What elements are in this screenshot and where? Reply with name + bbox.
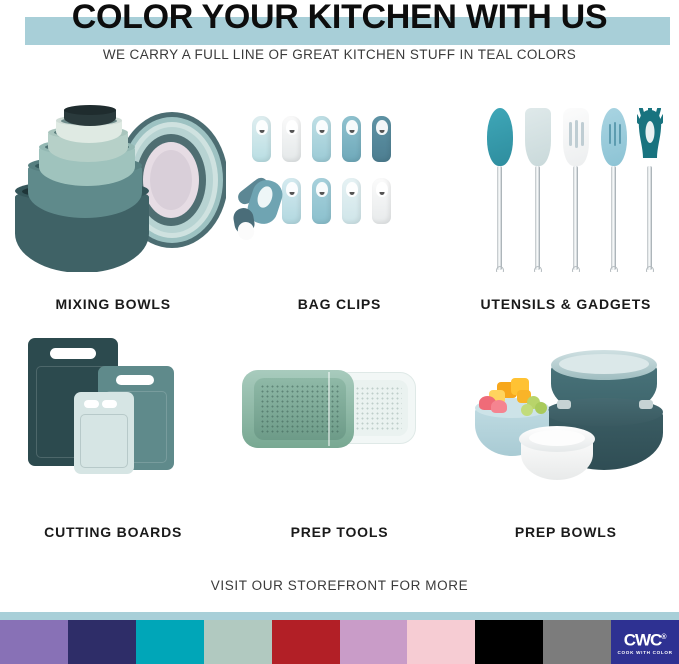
brand-logo-mark: CWC® — [624, 629, 667, 649]
utensil-slotted-spoon — [601, 108, 627, 272]
storefront-text: VISIT OUR STOREFRONT FOR MORE — [0, 578, 679, 593]
swatch-red — [272, 620, 340, 664]
utensil-spoon — [487, 108, 513, 272]
registered-trademark-icon: ® — [661, 634, 666, 641]
brand-tagline: COOK WITH COLOR — [618, 650, 673, 655]
open-bag-clip — [234, 178, 290, 240]
prep-bowls-illustration — [453, 320, 679, 500]
product-label: MIXING BOWLS — [0, 296, 226, 312]
swatch-pink — [407, 620, 475, 664]
utensil-spatula — [525, 108, 551, 272]
product-cell-mixing-bowls[interactable]: MIXING BOWLS — [0, 92, 226, 320]
swatch-teal — [136, 620, 204, 664]
brand-logo[interactable]: CWC® COOK WITH COLOR — [611, 620, 679, 664]
product-cell-utensils-gadgets[interactable]: UTENSILS & GADGETS — [453, 92, 679, 320]
marketing-banner: COLOR YOUR KITCHEN WITH US WE CARRY A FU… — [0, 0, 679, 664]
pasta-server-glyph — [637, 108, 663, 164]
product-cell-bag-clips[interactable]: BAG CLIPS — [226, 92, 452, 320]
utensils-illustration — [453, 92, 679, 272]
brand-logo-text: CWC — [624, 630, 662, 649]
product-label: BAG CLIPS — [226, 296, 452, 312]
cutting-boards-illustration — [0, 320, 226, 500]
product-grid: MIXING BOWLS — [0, 92, 679, 548]
utensil-pasta-server — [637, 108, 663, 272]
product-label: PREP BOWLS — [453, 524, 679, 540]
utensil-slotted-turner — [563, 108, 589, 272]
cutting-board-small — [74, 392, 134, 474]
swatch-purple — [0, 620, 68, 664]
color-swatch-bar: CWC® COOK WITH COLOR — [0, 620, 679, 664]
product-label: UTENSILS & GADGETS — [453, 296, 679, 312]
swatch-gray — [543, 620, 611, 664]
product-cell-cutting-boards[interactable]: CUTTING BOARDS — [0, 320, 226, 548]
swatch-black — [475, 620, 543, 664]
product-cell-prep-tools[interactable]: PREP TOOLS — [226, 320, 452, 548]
swatch-navy — [68, 620, 136, 664]
product-cell-prep-bowls[interactable]: PREP BOWLS — [453, 320, 679, 548]
product-label: CUTTING BOARDS — [0, 524, 226, 540]
product-label: PREP TOOLS — [226, 524, 452, 540]
bag-clips-illustration — [226, 92, 452, 272]
page-title: COLOR YOUR KITCHEN WITH US — [0, 0, 679, 36]
mixing-bowls-illustration — [0, 92, 226, 272]
header: COLOR YOUR KITCHEN WITH US WE CARRY A FU… — [0, 0, 679, 72]
footer-top-strip — [0, 612, 679, 620]
prep-tools-illustration — [226, 320, 452, 500]
swatch-orchid — [340, 620, 408, 664]
swatch-sage — [204, 620, 272, 664]
page-subtitle: WE CARRY A FULL LINE OF GREAT KITCHEN ST… — [0, 47, 679, 62]
